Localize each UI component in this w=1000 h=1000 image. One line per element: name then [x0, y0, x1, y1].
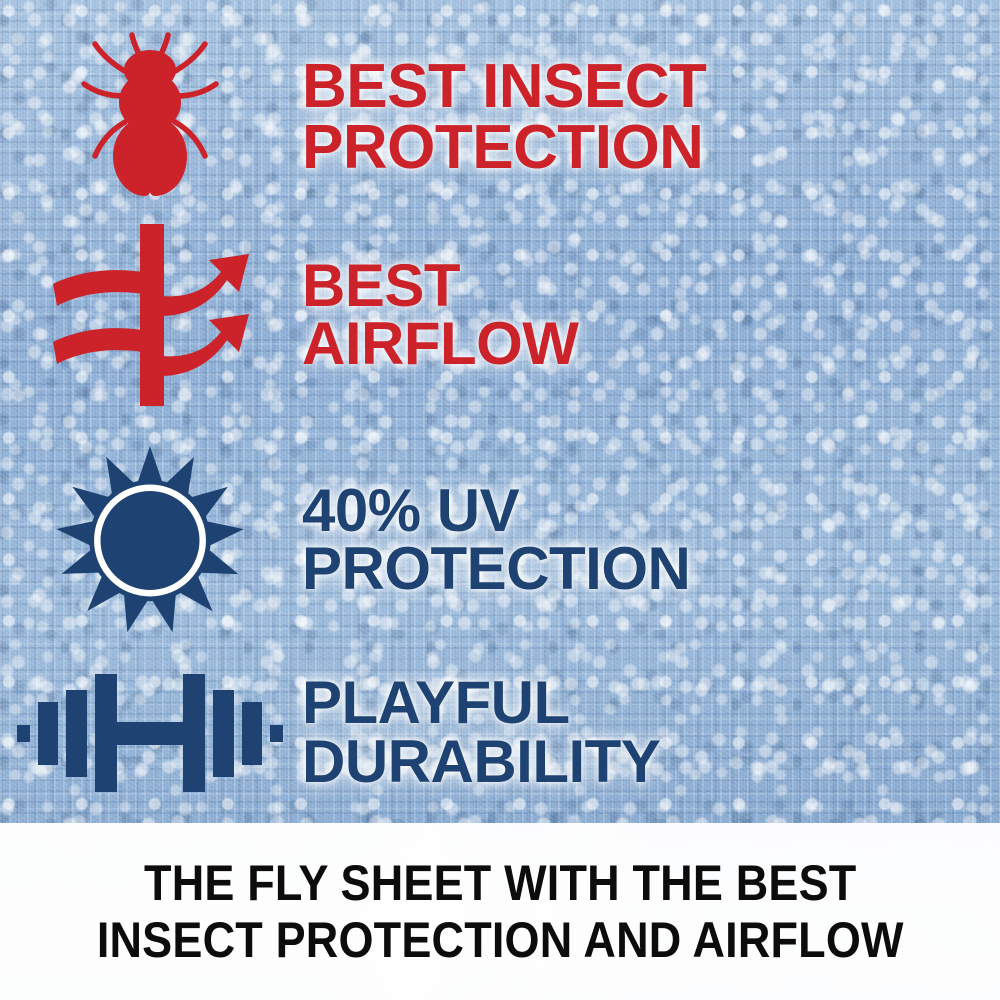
sun-icon — [0, 440, 300, 640]
caption-line-2: INSECT PROTECTION AND AIRFLOW — [97, 912, 904, 969]
product-feature-infographic: BEST INSECT PROTECTION BEST AIRFLOW — [0, 0, 1000, 1000]
dumbbell-icon — [0, 645, 300, 820]
feature-label-insect-protection: BEST INSECT PROTECTION — [300, 57, 1000, 177]
feature-label-airflow: BEST AIRFLOW — [300, 257, 1000, 373]
feature-row-airflow: BEST AIRFLOW — [0, 215, 1000, 415]
fly-icon — [0, 30, 300, 205]
airflow-arrows-icon — [0, 215, 300, 415]
feature-row-uv-protection: 40% UV PROTECTION — [0, 440, 1000, 640]
feature-label-uv-protection: 40% UV PROTECTION — [300, 482, 1000, 598]
caption-band: THE FLY SHEET WITH THE BEST INSECT PROTE… — [0, 823, 1000, 1000]
caption-text: THE FLY SHEET WITH THE BEST INSECT PROTE… — [97, 855, 904, 969]
feature-label-durability: PLAYFUL DURABILITY — [300, 674, 1000, 790]
feature-row-durability: PLAYFUL DURABILITY — [0, 645, 1000, 820]
caption-line-1: THE FLY SHEET WITH THE BEST — [97, 855, 904, 912]
feature-row-insect-protection: BEST INSECT PROTECTION — [0, 30, 1000, 205]
